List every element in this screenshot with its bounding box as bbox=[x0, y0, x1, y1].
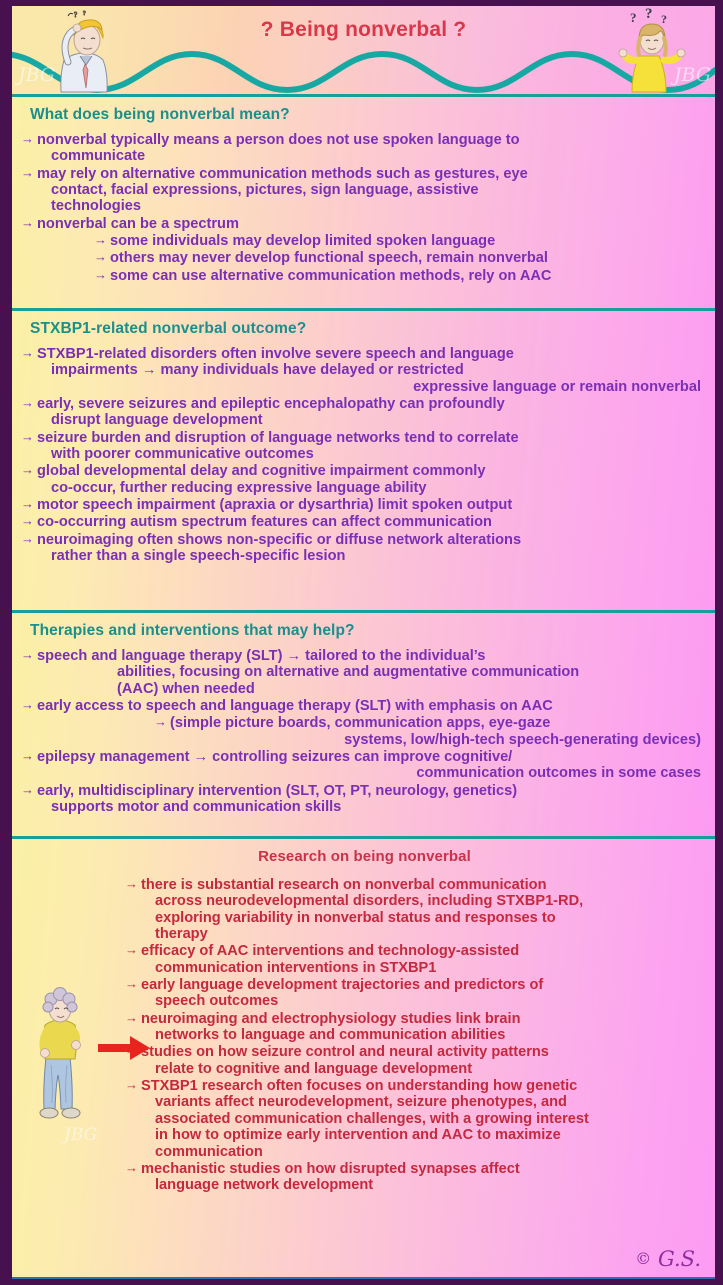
list-item: STXBP1-related disorders often involve s… bbox=[20, 346, 709, 395]
section-research-on-being-nonverbal: Research on being nonverbal there is sub… bbox=[12, 836, 715, 1277]
list-item: there is substantial research on nonverb… bbox=[124, 877, 709, 942]
copyright-icon: © bbox=[635, 1249, 651, 1268]
bullet-list: nonverbal typically means a person does … bbox=[20, 132, 709, 284]
red-arrow-icon bbox=[98, 1035, 150, 1061]
list-item: early language development trajectories … bbox=[124, 977, 709, 1010]
list-item: (simple picture boards, communication ap… bbox=[20, 715, 709, 748]
list-item: co-occurring autism spectrum features ca… bbox=[20, 514, 709, 530]
person-pointing-illustration bbox=[26, 987, 98, 1129]
section-heading: What does being nonverbal mean? bbox=[30, 106, 709, 124]
poster-header: ? Being nonverbal ? ? ? bbox=[12, 6, 715, 94]
list-item: mechanistic studies on how disrupted syn… bbox=[124, 1161, 709, 1194]
section-heading: Therapies and interventions that may hel… bbox=[30, 622, 709, 640]
list-item: nonverbal typically means a person does … bbox=[20, 132, 709, 165]
list-item: epilepsy management → controlling seizur… bbox=[20, 749, 709, 782]
list-item: neuroimaging often shows non-specific or… bbox=[20, 532, 709, 565]
list-item: early, multidisciplinary intervention (S… bbox=[20, 783, 709, 816]
list-item: others may never develop functional spee… bbox=[20, 250, 709, 266]
section-heading: STXBP1-related nonverbal outcome? bbox=[30, 320, 709, 338]
bullet-list: speech and language therapy (SLT) → tail… bbox=[20, 648, 709, 815]
list-item: seizure burden and disruption of languag… bbox=[20, 430, 709, 463]
infographic-poster: ? Being nonverbal ? ? ? bbox=[0, 0, 723, 1285]
svg-text:?: ? bbox=[83, 11, 86, 17]
signature-text: G.S. bbox=[658, 1247, 701, 1271]
page-title: ? Being nonverbal ? bbox=[12, 18, 715, 42]
list-item: STXBP1 research often focuses on underst… bbox=[124, 1078, 709, 1160]
list-item: studies on how seizure control and neura… bbox=[124, 1044, 709, 1077]
bullet-list: STXBP1-related disorders often involve s… bbox=[20, 346, 709, 564]
list-item: nonverbal can be a spectrum bbox=[20, 216, 709, 232]
copyright-signature: © G.S. bbox=[635, 1247, 701, 1271]
list-item: some can use alternative communication m… bbox=[20, 268, 709, 284]
list-item: global developmental delay and cognitive… bbox=[20, 463, 709, 496]
section-therapies-and-interventions: Therapies and interventions that may hel… bbox=[12, 610, 715, 836]
list-item: early access to speech and language ther… bbox=[20, 698, 709, 714]
section-heading: Research on being nonverbal bbox=[20, 848, 709, 865]
list-item: motor speech impairment (apraxia or dysa… bbox=[20, 497, 709, 513]
bullet-list: there is substantial research on nonverb… bbox=[124, 877, 709, 1194]
section-stxbp1-related-nonverbal-outcome: STXBP1-related nonverbal outcome? STXBP1… bbox=[12, 308, 715, 610]
list-item: some individuals may develop limited spo… bbox=[20, 233, 709, 249]
list-item: efficacy of AAC interventions and techno… bbox=[124, 943, 709, 976]
list-item: may rely on alternative communication me… bbox=[20, 166, 709, 215]
list-item: early, severe seizures and epileptic enc… bbox=[20, 396, 709, 429]
section-what-does-being-nonverbal-mean: What does being nonverbal mean? nonverba… bbox=[12, 94, 715, 308]
list-item: speech and language therapy (SLT) → tail… bbox=[20, 648, 709, 697]
list-item: neuroimaging and electrophysiology studi… bbox=[124, 1011, 709, 1044]
